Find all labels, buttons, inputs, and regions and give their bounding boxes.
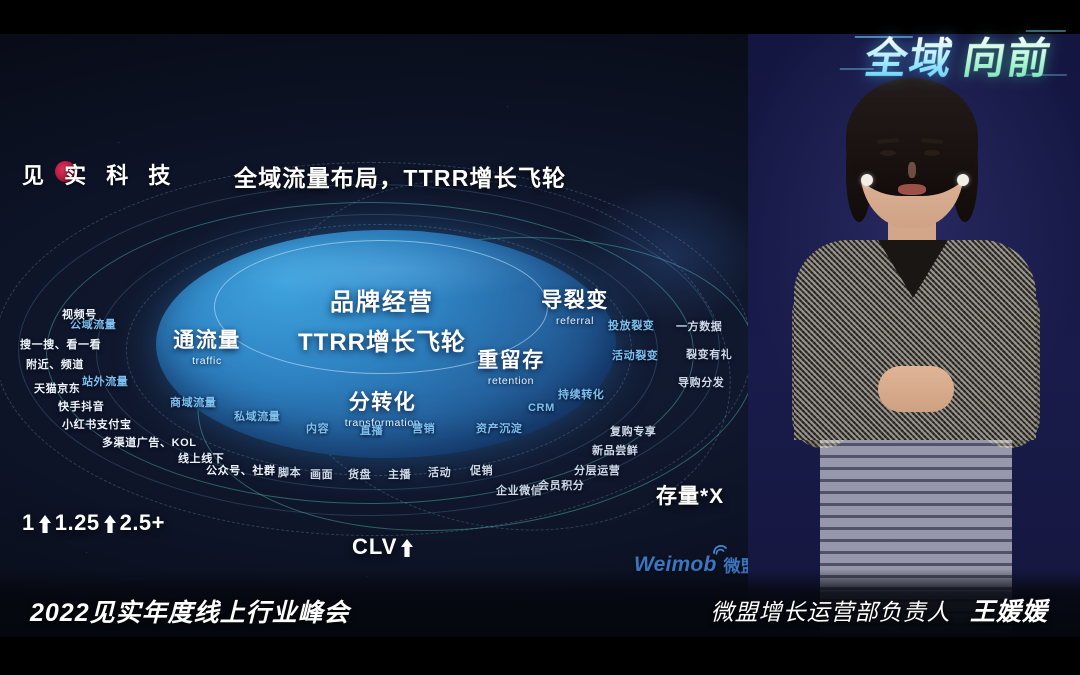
event-logo: 全域 向前 xyxy=(861,24,1057,86)
chip-transform-group-content[interactable]: 内容 xyxy=(306,420,329,436)
chip-retention-item-repurchase[interactable]: 复购专享 xyxy=(610,423,656,439)
chip-retention-group-continuous[interactable]: 持续转化 xyxy=(558,386,604,402)
chip-transform-item-inventory[interactable]: 货盘 xyxy=(348,466,371,482)
speaker-video xyxy=(748,34,1080,637)
chip-traffic-group-private[interactable]: 私域流量 xyxy=(234,408,280,424)
chip-channel-video[interactable]: 视频号 xyxy=(62,306,97,322)
chip-traffic-group-offsite[interactable]: 站外流量 xyxy=(82,373,128,389)
chip-retention-item-wecom[interactable]: 企业微信 xyxy=(496,482,542,498)
event-logo-part2: 向前 xyxy=(959,25,1057,86)
core-label-line2: TTRR增长飞轮 xyxy=(232,322,532,357)
speaker-name: 王媛媛 xyxy=(970,598,1048,626)
chip-referral-group-activity[interactable]: 活动裂变 xyxy=(612,347,658,363)
caption-bar: 2022见实年度线上行业峰会 微盟增长运营部负责人 王媛媛 xyxy=(0,569,1080,637)
up-arrow-icon xyxy=(400,538,414,558)
up-arrow-icon xyxy=(38,514,52,534)
chip-transform-item-host[interactable]: 主播 xyxy=(388,466,411,482)
wifi-icon xyxy=(712,543,728,555)
speaker-credit: 微盟增长运营部负责人 王媛媛 xyxy=(711,592,1048,628)
metric-clv: CLV xyxy=(352,534,417,560)
chip-referral-item-first-party[interactable]: 一方数据 xyxy=(676,318,722,334)
node-referral-cn: 导裂变 xyxy=(520,284,630,314)
chip-channel-kuaishou[interactable]: 快手抖音 xyxy=(58,398,104,414)
speaker-mouth xyxy=(898,184,926,195)
chip-transform-group-marketing[interactable]: 营销 xyxy=(412,420,435,436)
speaker-hands xyxy=(878,366,954,412)
metric-growth-multiplier: 1 1.25 2.5+ xyxy=(22,510,165,536)
publisher-logo-text: 见 实 科 技 xyxy=(22,158,177,190)
up-arrow-icon xyxy=(103,514,117,534)
slide-title: 全域流量布局，TTRR增长飞轮 xyxy=(234,159,566,193)
chip-referral-group-ads[interactable]: 投放裂变 xyxy=(608,317,654,333)
chip-referral-item-gift[interactable]: 裂变有礼 xyxy=(686,346,732,362)
speaker-nose xyxy=(908,162,916,178)
speaker-role: 微盟增长运营部负责人 xyxy=(711,599,951,625)
chip-transform-item-visual[interactable]: 画面 xyxy=(310,466,333,482)
metric-clv-label: CLV xyxy=(352,534,397,560)
speaker-earring-right xyxy=(957,174,969,186)
event-logo-part1: 全域 xyxy=(861,25,959,86)
chip-retention-group-asset[interactable]: 资产沉淀 xyxy=(476,420,522,436)
speaker-eye-right xyxy=(924,150,940,156)
chip-transform-item-script[interactable]: 脚本 xyxy=(278,464,301,480)
chip-transform-item-promotion[interactable]: 促销 xyxy=(470,462,493,478)
metric-growth-start: 1 xyxy=(22,510,35,536)
chip-channel-ads-kol[interactable]: 多渠道广告、KOL xyxy=(102,434,197,450)
chip-retention-item-new-product[interactable]: 新品尝鲜 xyxy=(592,442,638,458)
node-transformation-cn: 分转化 xyxy=(320,386,445,416)
publisher-logo: 见 实 科 技 xyxy=(22,158,177,190)
chip-channel-search[interactable]: 搜一搜、看一看 xyxy=(20,336,101,352)
metric-growth-end: 2.5+ xyxy=(120,510,165,536)
chip-retention-item-points[interactable]: 会员积分 xyxy=(538,477,584,493)
chip-channel-xiaohongshu[interactable]: 小红书支付宝 xyxy=(62,416,132,432)
core-label: 品牌经营 TTRR增长飞轮 xyxy=(232,282,532,357)
video-frame: 品牌经营 TTRR增长飞轮 通流量 traffic 分转化 transforma… xyxy=(0,0,1080,675)
node-retention-en: retention xyxy=(456,375,566,387)
chip-referral-item-distribute[interactable]: 导购分发 xyxy=(678,374,724,390)
chip-traffic-group-business[interactable]: 商域流量 xyxy=(170,394,216,410)
chip-retention-group-crm[interactable]: CRM xyxy=(528,402,555,414)
metric-stock: 存量*X xyxy=(656,480,724,510)
speaker-eye-left xyxy=(880,150,896,156)
chip-transform-item-activity[interactable]: 活动 xyxy=(428,464,451,480)
chip-channel-nearby[interactable]: 附近、频道 xyxy=(26,356,84,372)
chip-channel-official-account[interactable]: 公众号、社群 xyxy=(206,462,276,478)
chip-retention-item-tiered[interactable]: 分层运营 xyxy=(574,462,620,478)
chip-channel-tmall[interactable]: 天猫京东 xyxy=(34,380,80,396)
letterbox-bottom xyxy=(0,637,1080,675)
chip-transform-group-live[interactable]: 直播 xyxy=(360,422,383,438)
metric-growth-mid: 1.25 xyxy=(55,510,100,536)
speaker-earring-left xyxy=(861,174,873,186)
core-label-line1: 品牌经营 xyxy=(232,282,532,317)
event-name: 2022见实年度线上行业峰会 xyxy=(30,593,350,629)
